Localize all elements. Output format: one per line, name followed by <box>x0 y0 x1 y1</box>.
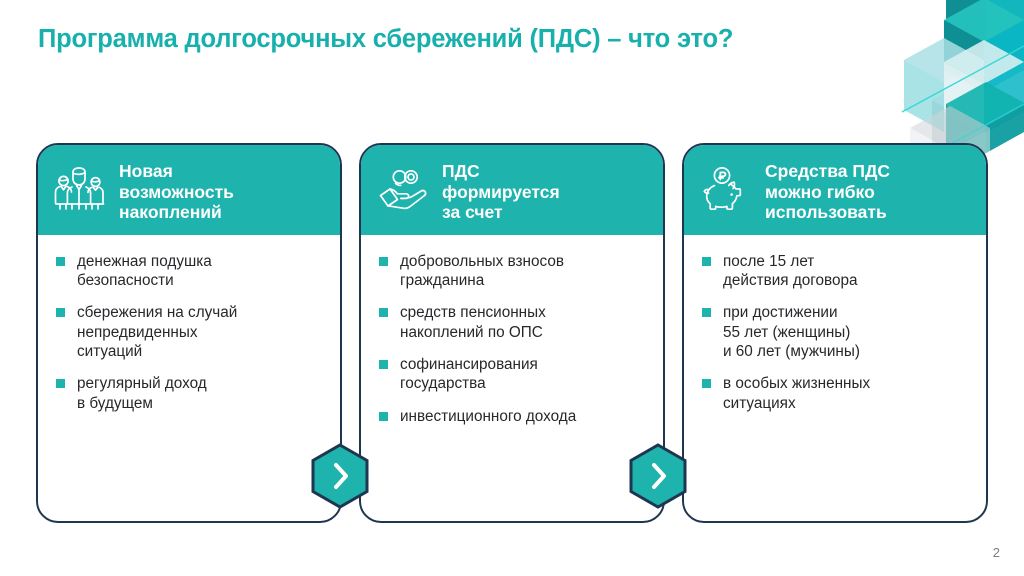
chevron-right-connector-2 <box>628 443 688 509</box>
card-body: добровольных взносов гражданина средств … <box>361 235 663 521</box>
card-pds-formed-from: ПДС формируется за счет добровольных взн… <box>359 143 665 523</box>
list-item: при достижении 55 лет (женщины) и 60 лет… <box>700 303 974 361</box>
piggy-bank-ruble-icon <box>698 163 754 215</box>
list-item: средств пенсионных накоплений по ОПС <box>377 303 651 342</box>
card-new-savings-opportunity: Новая возможность накоплений денежная по… <box>36 143 342 523</box>
bullet-list: денежная подушка безопасности сбережения… <box>54 252 328 413</box>
chevron-right-connector-1 <box>310 443 370 509</box>
hand-with-coins-icon <box>375 163 431 215</box>
card-title: ПДС формируется за счет <box>442 159 560 223</box>
page-title: Программа долгосрочных сбережений (ПДС) … <box>38 24 878 55</box>
card-title: Средства ПДС можно гибко использовать <box>765 159 890 223</box>
list-item: софинансирования государства <box>377 355 651 394</box>
list-item: сбережения на случай непредвиденных ситу… <box>54 303 328 361</box>
card-body: денежная подушка безопасности сбережения… <box>38 235 340 521</box>
card-header: Средства ПДС можно гибко использовать <box>684 145 986 235</box>
card-body: после 15 лет действия договора при дости… <box>684 235 986 521</box>
list-item: денежная подушка безопасности <box>54 252 328 291</box>
page-number: 2 <box>993 545 1000 560</box>
list-item: после 15 лет действия договора <box>700 252 974 291</box>
list-item: инвестиционного дохода <box>377 407 651 426</box>
card-title: Новая возможность накоплений <box>119 159 234 223</box>
list-item: в особых жизненных ситуациях <box>700 374 974 413</box>
card-header: Новая возможность накоплений <box>38 145 340 235</box>
list-item: регулярный доход в будущем <box>54 374 328 413</box>
card-header: ПДС формируется за счет <box>361 145 663 235</box>
list-item: добровольных взносов гражданина <box>377 252 651 291</box>
bullet-list: добровольных взносов гражданина средств … <box>377 252 651 426</box>
people-group-icon <box>52 163 108 215</box>
card-pds-flexible-use: Средства ПДС можно гибко использовать по… <box>682 143 988 523</box>
cards-row: Новая возможность накоплений денежная по… <box>36 143 988 523</box>
bullet-list: после 15 лет действия договора при дости… <box>700 252 974 413</box>
